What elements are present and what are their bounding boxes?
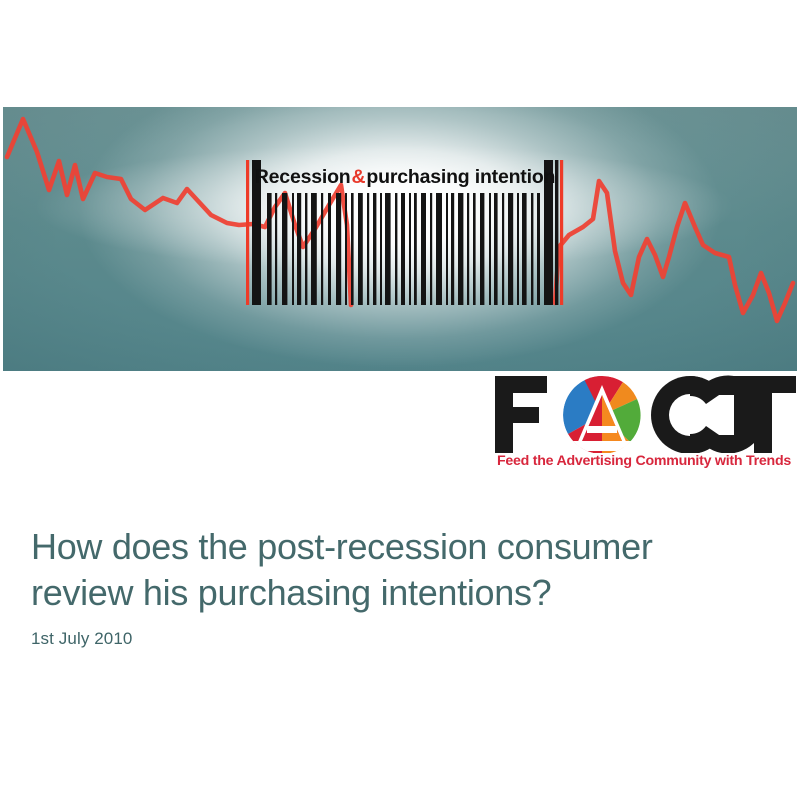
slide-canvas: Recession & purchasing intention bbox=[0, 0, 800, 800]
page-title-line-1: How does the post-recession consumer bbox=[31, 524, 761, 570]
barcode-graphic: Recession & purchasing intention bbox=[244, 160, 566, 305]
fact-logo: Feed the Advertising Community with Tren… bbox=[489, 371, 797, 477]
barcode-caption-suffix: purchasing intention bbox=[366, 168, 555, 188]
page-date: 1st July 2010 bbox=[31, 629, 132, 649]
barcode-caption-prefix: Recession bbox=[255, 168, 351, 188]
page-title: How does the post-recession consumer rev… bbox=[31, 524, 761, 616]
fact-wordmark bbox=[489, 371, 797, 453]
barcode-caption: Recession & purchasing intention bbox=[266, 164, 544, 192]
fact-logo-tagline: Feed the Advertising Community with Tren… bbox=[491, 454, 797, 468]
page-title-line-2: review his purchasing intentions? bbox=[31, 570, 761, 616]
logo-colour-wheel bbox=[563, 376, 641, 453]
logo-letter-f bbox=[495, 376, 547, 453]
barcode-caption-ampersand: & bbox=[351, 168, 367, 188]
fact-wordmark-svg bbox=[489, 371, 797, 453]
